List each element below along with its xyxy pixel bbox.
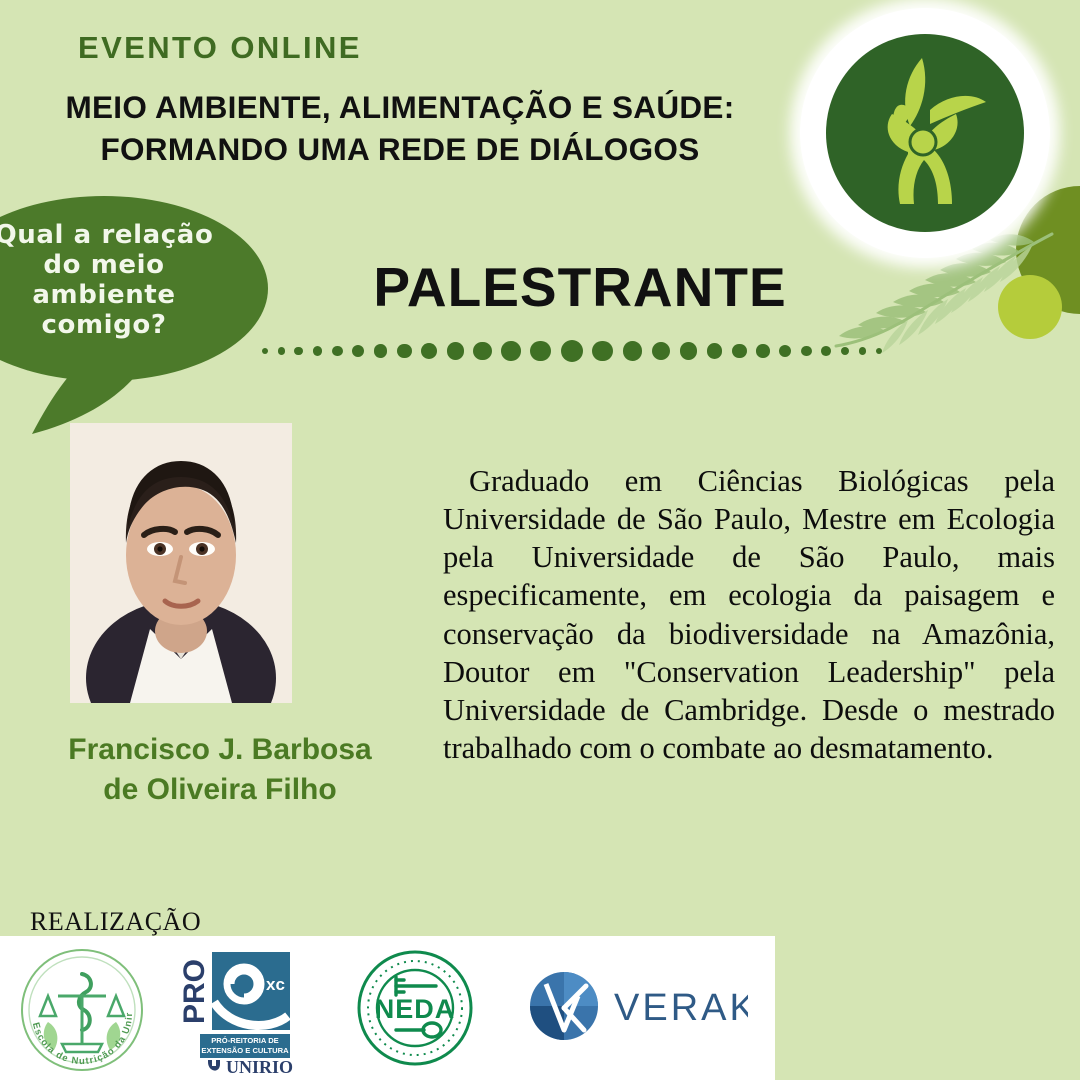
- logo-xc-text: xc: [266, 975, 285, 994]
- logo-proexc-sub1: PRÓ-REITORIA DE: [211, 1036, 279, 1045]
- divider-dot: [352, 345, 364, 357]
- sponsor-logo-band: Escola de Nutrição da Unirio PRO xc PRÓ-…: [0, 936, 775, 1080]
- speech-bubble-text: Qual a relação do meio ambiente comigo?: [0, 220, 268, 341]
- divider-dot: [756, 344, 769, 357]
- title-line-1: MEIO AMBIENTE, ALIMENTAÇÃO E SAÚDE:: [65, 89, 734, 125]
- speech-bubble: Qual a relação do meio ambiente comigo?: [0, 196, 270, 426]
- speaker-name-line-1: Francisco J. Barbosa: [10, 730, 430, 770]
- logo-proexc-sub2: EXTENSÃO E CULTURA: [201, 1046, 289, 1055]
- divider-dot: [623, 341, 643, 361]
- divider-dot: [374, 344, 387, 357]
- bubble-line-1: Qual a relação: [0, 220, 268, 250]
- dotted-divider: [262, 338, 882, 364]
- section-heading: PALESTRANTE: [270, 255, 890, 319]
- realizacao-label: REALIZAÇÃO: [30, 907, 201, 937]
- divider-dot: [313, 346, 323, 356]
- divider-dot: [841, 347, 849, 355]
- event-kicker: EVENTO ONLINE: [78, 30, 362, 66]
- speaker-photo: [70, 423, 292, 703]
- logo-verakis: VERAKIS: [528, 936, 748, 1080]
- sprout-person-icon: [860, 50, 992, 210]
- divider-dot: [801, 346, 812, 357]
- logo-neda: NEDA: [350, 936, 480, 1080]
- speaker-name: Francisco J. Barbosa de Oliveira Filho: [10, 730, 430, 809]
- divider-dot: [779, 345, 791, 357]
- divider-dot: [876, 348, 882, 354]
- speaker-name-line-2: de Oliveira Filho: [10, 770, 430, 810]
- logo-proexc-unirio: PRO xc PRÓ-REITORIA DE EXTENSÃO E CULTUR…: [182, 936, 302, 1080]
- divider-dot: [530, 341, 551, 362]
- divider-dot: [592, 341, 613, 362]
- divider-dot: [707, 343, 723, 359]
- page-title: MEIO AMBIENTE, ALIMENTAÇÃO E SAÚDE: FORM…: [0, 86, 800, 170]
- divider-dot: [501, 341, 521, 361]
- divider-dot: [473, 342, 491, 360]
- bubble-line-4: comigo?: [0, 310, 268, 340]
- divider-dot: [397, 344, 412, 359]
- divider-dot: [294, 347, 302, 355]
- title-line-2: FORMANDO UMA REDE DE DIÁLOGOS: [0, 128, 800, 170]
- divider-dot: [732, 344, 747, 359]
- logo-unirio-text: UNIRIO: [226, 1057, 293, 1074]
- logo-neda-text: NEDA: [375, 994, 456, 1024]
- logo-pro-text: PRO: [182, 959, 211, 1024]
- divider-dot: [278, 347, 285, 354]
- speaker-bio: Graduado em Ciências Biológicas pela Uni…: [443, 462, 1055, 767]
- divider-dot: [262, 348, 268, 354]
- divider-dot: [680, 342, 697, 359]
- logo-verakis-text: VERAKIS: [614, 987, 748, 1029]
- divider-dot: [421, 343, 437, 359]
- divider-dot: [859, 347, 866, 354]
- divider-dot: [652, 342, 670, 360]
- speaker-portrait-image: [70, 423, 292, 703]
- divider-dot: [447, 342, 464, 359]
- divider-dot: [821, 346, 831, 356]
- event-logo-badge: [800, 8, 1050, 258]
- divider-dot: [561, 340, 583, 362]
- poster-canvas: EVENTO ONLINE MEIO AMBIENTE, ALIMENTAÇÃO…: [0, 0, 1080, 1080]
- divider-dot: [332, 346, 343, 357]
- logo-escola-nutricao-unirio: Escola de Nutrição da Unirio: [18, 936, 146, 1080]
- bubble-line-2: do meio: [0, 250, 268, 280]
- bubble-line-3: ambiente: [0, 280, 268, 310]
